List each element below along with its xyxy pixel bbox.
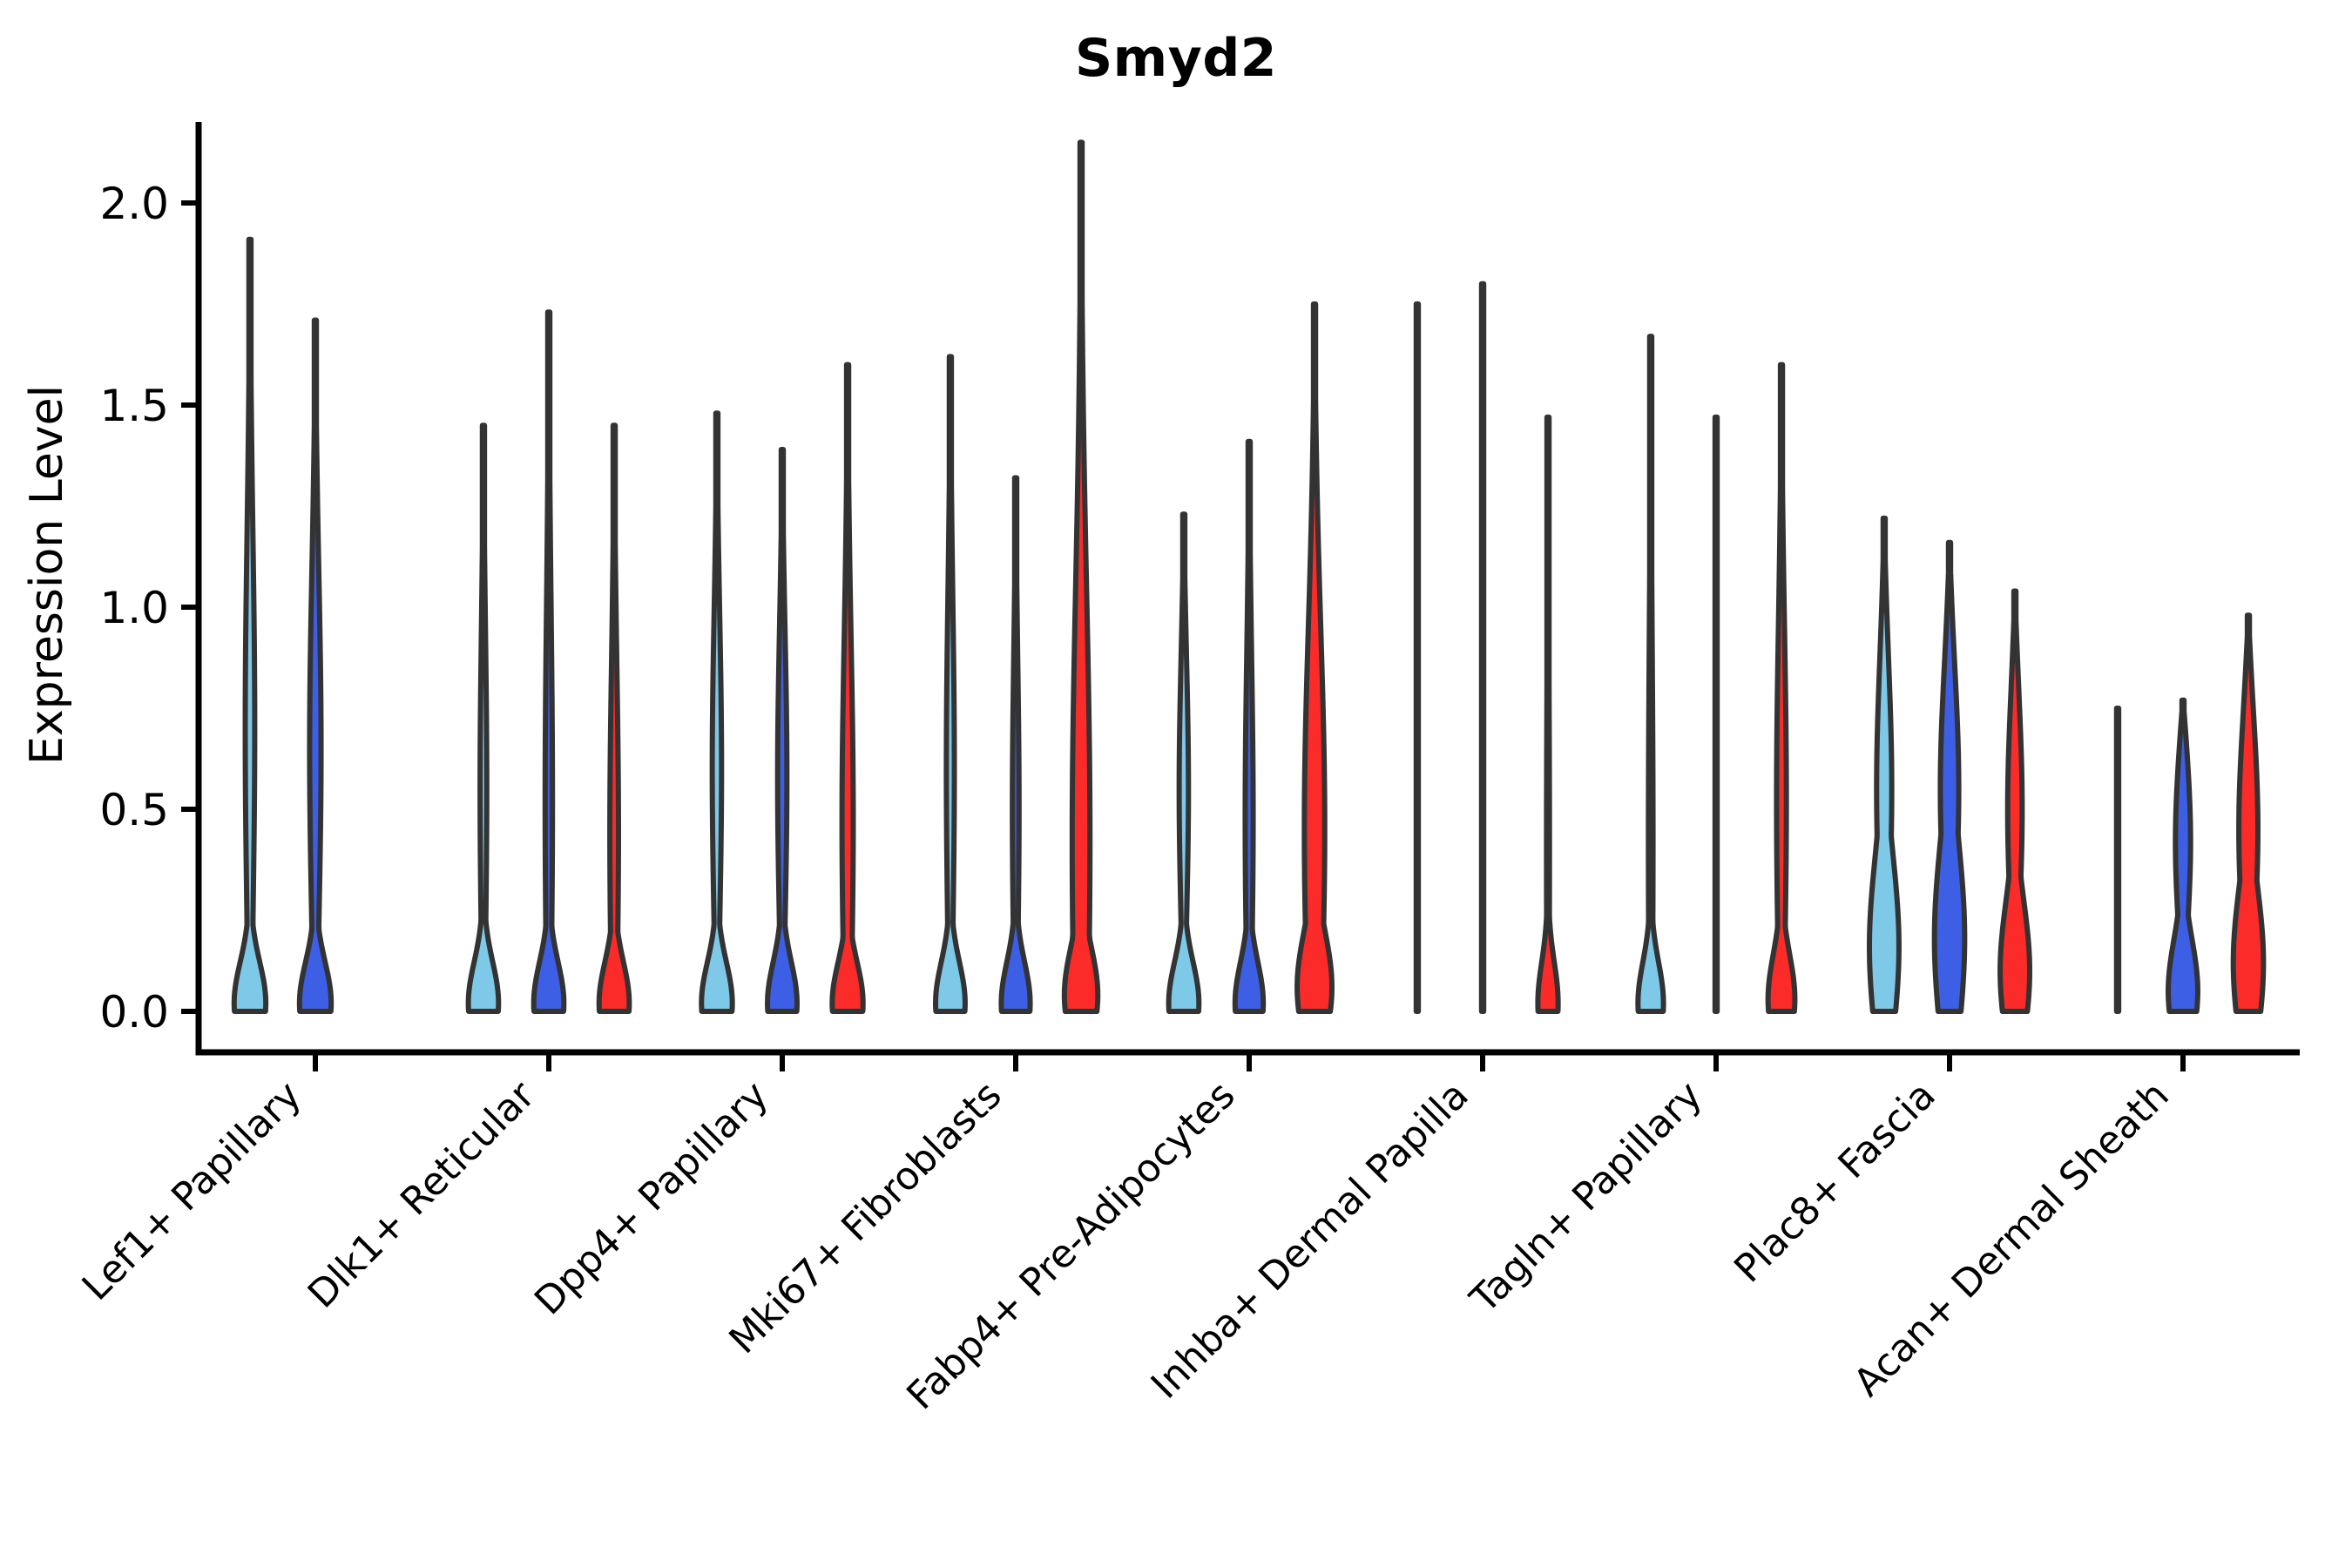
violin[interactable] [1869,518,1899,1011]
violin-body[interactable] [1768,365,1795,1011]
violin-body[interactable] [1482,284,1484,1011]
x-tick-label: Dpp4+ Papillary [526,1073,777,1324]
violin[interactable] [234,240,266,1011]
y-tick-label: 1.0 [99,583,169,633]
violin-body[interactable] [1297,304,1332,1011]
violin[interactable] [1169,514,1200,1011]
violin[interactable] [2168,700,2198,1011]
violin-body[interactable] [767,449,797,1011]
violin-body[interactable] [1538,417,1558,1011]
violin-body[interactable] [2000,591,2030,1011]
violin-body[interactable] [1869,518,1899,1011]
violin-body[interactable] [1935,543,1965,1011]
chart-canvas: 0.00.51.01.52.0 Lef1+ PapillaryDlk1+ Ret… [0,0,2352,1568]
violin[interactable] [1935,543,1965,1011]
violin[interactable] [1538,417,1558,1011]
violin[interactable] [1235,442,1263,1011]
violin[interactable] [936,356,965,1011]
violin[interactable] [534,312,564,1011]
violin-body[interactable] [534,312,564,1011]
violin[interactable] [1638,336,1663,1011]
violin-body[interactable] [234,240,266,1011]
violin[interactable] [1416,304,1418,1011]
y-tick-label: 1.5 [99,381,169,431]
violin[interactable] [599,425,630,1011]
x-tick-label: Dlk1+ Reticular [300,1072,544,1317]
violin-body[interactable] [1001,478,1030,1011]
violin[interactable] [767,449,797,1011]
y-tick-label: 0.5 [99,785,169,835]
violin-body[interactable] [1064,142,1098,1011]
x-tick-layer: Lef1+ PapillaryDlk1+ ReticularDpp4+ Papi… [74,1052,2183,1418]
violin-body[interactable] [469,425,499,1011]
violin-body[interactable] [2234,615,2264,1011]
violin-body[interactable] [1638,336,1663,1011]
x-tick-label: Plac8+ Fascia [1726,1073,1944,1292]
violin-body[interactable] [2117,708,2119,1011]
violin[interactable] [1297,304,1332,1011]
violin-body[interactable] [1416,304,1418,1011]
violin[interactable] [1768,365,1795,1011]
violin-layer [199,142,2300,1011]
violin[interactable] [1715,417,1717,1011]
x-tick-label: Lef1+ Papillary [74,1073,310,1309]
violin[interactable] [701,413,732,1011]
y-tick-label: 0.0 [99,987,169,1037]
violin-body[interactable] [1235,442,1263,1011]
violin-body[interactable] [599,425,630,1011]
violin-body[interactable] [1715,417,1717,1011]
violin[interactable] [2000,591,2030,1011]
violin[interactable] [832,365,862,1011]
violin-plot-figure: Smyd2 Expression Level 0.00.51.01.52.0 L… [0,0,2352,1568]
violin[interactable] [2234,615,2264,1011]
violin[interactable] [1001,478,1030,1011]
violin-body[interactable] [300,321,331,1011]
violin-body[interactable] [1169,514,1200,1011]
violin[interactable] [1482,284,1484,1011]
violin-body[interactable] [936,356,965,1011]
violin[interactable] [2117,708,2119,1011]
y-tick-label: 2.0 [99,179,169,229]
violin[interactable] [469,425,499,1011]
violin-body[interactable] [2168,700,2198,1011]
violin[interactable] [1064,142,1098,1011]
violin-body[interactable] [701,413,732,1011]
y-tick-layer: 0.00.51.01.52.0 [99,179,199,1037]
x-tick-label: Tagln+ Papillary [1462,1073,1711,1322]
violin[interactable] [300,321,331,1011]
violin-body[interactable] [832,365,862,1011]
